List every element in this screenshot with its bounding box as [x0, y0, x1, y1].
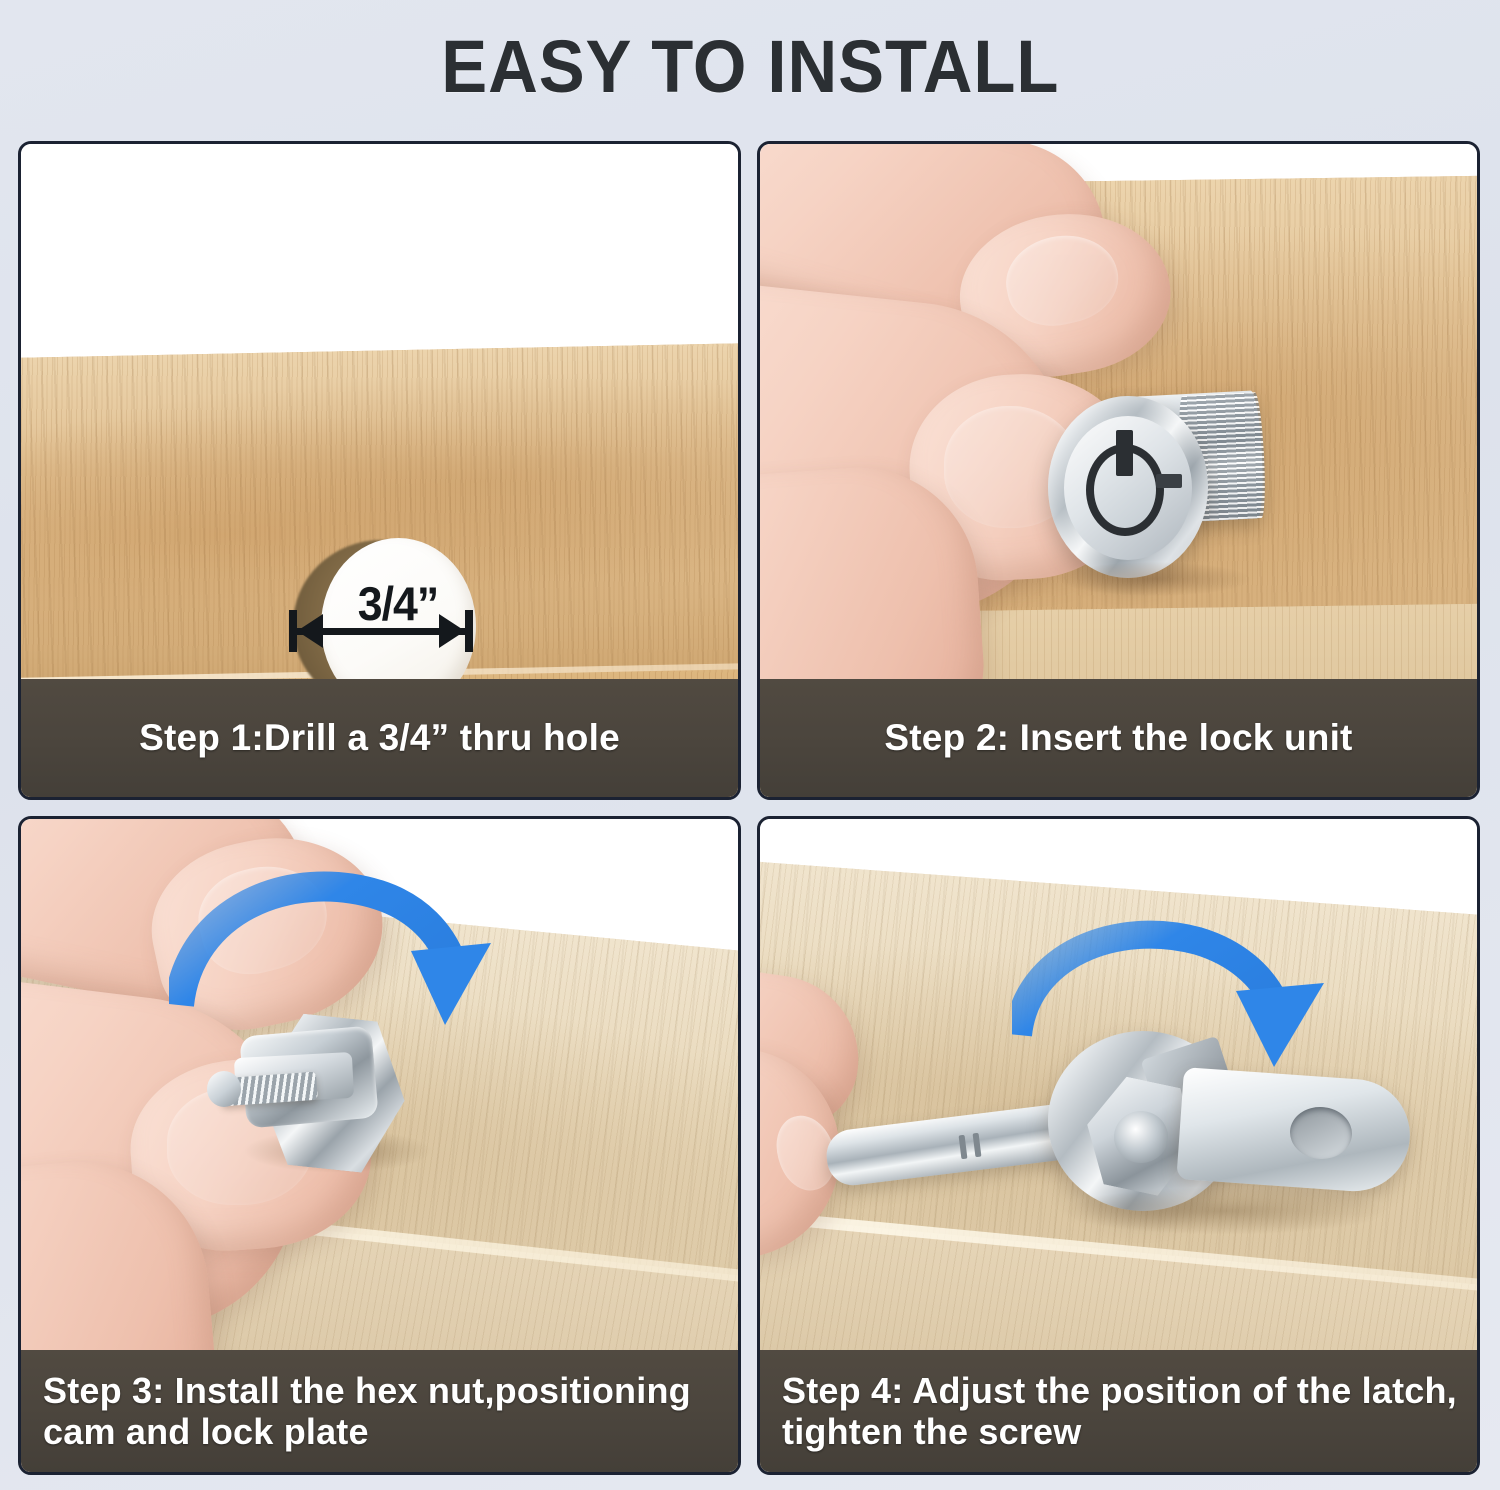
- step-1-caption-line-1: Step 1:Drill a 3/4” thru hole: [139, 717, 620, 759]
- page-title: EASY TO INSTALL: [441, 24, 1059, 109]
- cam-screw-center: [1114, 1111, 1168, 1163]
- screw-head: [207, 1071, 241, 1107]
- step-4-caption-line-2: tighten the screw: [782, 1411, 1457, 1452]
- dimension-arrow-right-icon: [439, 614, 465, 648]
- step-4-caption: Step 4: Adjust the position of the latch…: [760, 1350, 1477, 1472]
- rotation-arrow-icon: [1012, 915, 1342, 1105]
- step-2-caption: Step 2: Insert the lock unit: [760, 679, 1477, 797]
- step-4-caption-line-1: Step 4: Adjust the position of the latch…: [782, 1370, 1457, 1411]
- step-3-caption-line-2: cam and lock plate: [43, 1411, 691, 1452]
- step-panel-3: Step 3: Install the hex nut,positioning …: [18, 816, 741, 1475]
- latch-shadow: [1060, 1187, 1390, 1235]
- dimension-arrow-left-icon: [297, 614, 323, 648]
- step-3-caption-line-1: Step 3: Install the hex nut,positioning: [43, 1370, 691, 1411]
- rotation-arrow-icon: [169, 865, 509, 1065]
- keyhole-notch-icon: [1156, 474, 1182, 488]
- step-panel-1: 3/4” Step 1:Drill a 3/4” thru hole: [18, 141, 741, 800]
- dimension-tick-left: [289, 610, 297, 652]
- title-bar: EASY TO INSTALL: [0, 0, 1500, 132]
- step-3-caption: Step 3: Install the hex nut,positioning …: [21, 1350, 738, 1472]
- dimension-tick-right: [465, 610, 473, 652]
- step-1-caption: Step 1:Drill a 3/4” thru hole: [21, 679, 738, 797]
- steps-grid: 3/4” Step 1:Drill a 3/4” thru hole: [18, 141, 1484, 1475]
- lock-shadow: [1060, 562, 1250, 596]
- keyhole-slot-icon: [1116, 430, 1133, 476]
- step-2-caption-line-1: Step 2: Insert the lock unit: [884, 717, 1352, 759]
- step-panel-4: Step 4: Adjust the position of the latch…: [757, 816, 1480, 1475]
- step-panel-2: Step 2: Insert the lock unit: [757, 141, 1480, 800]
